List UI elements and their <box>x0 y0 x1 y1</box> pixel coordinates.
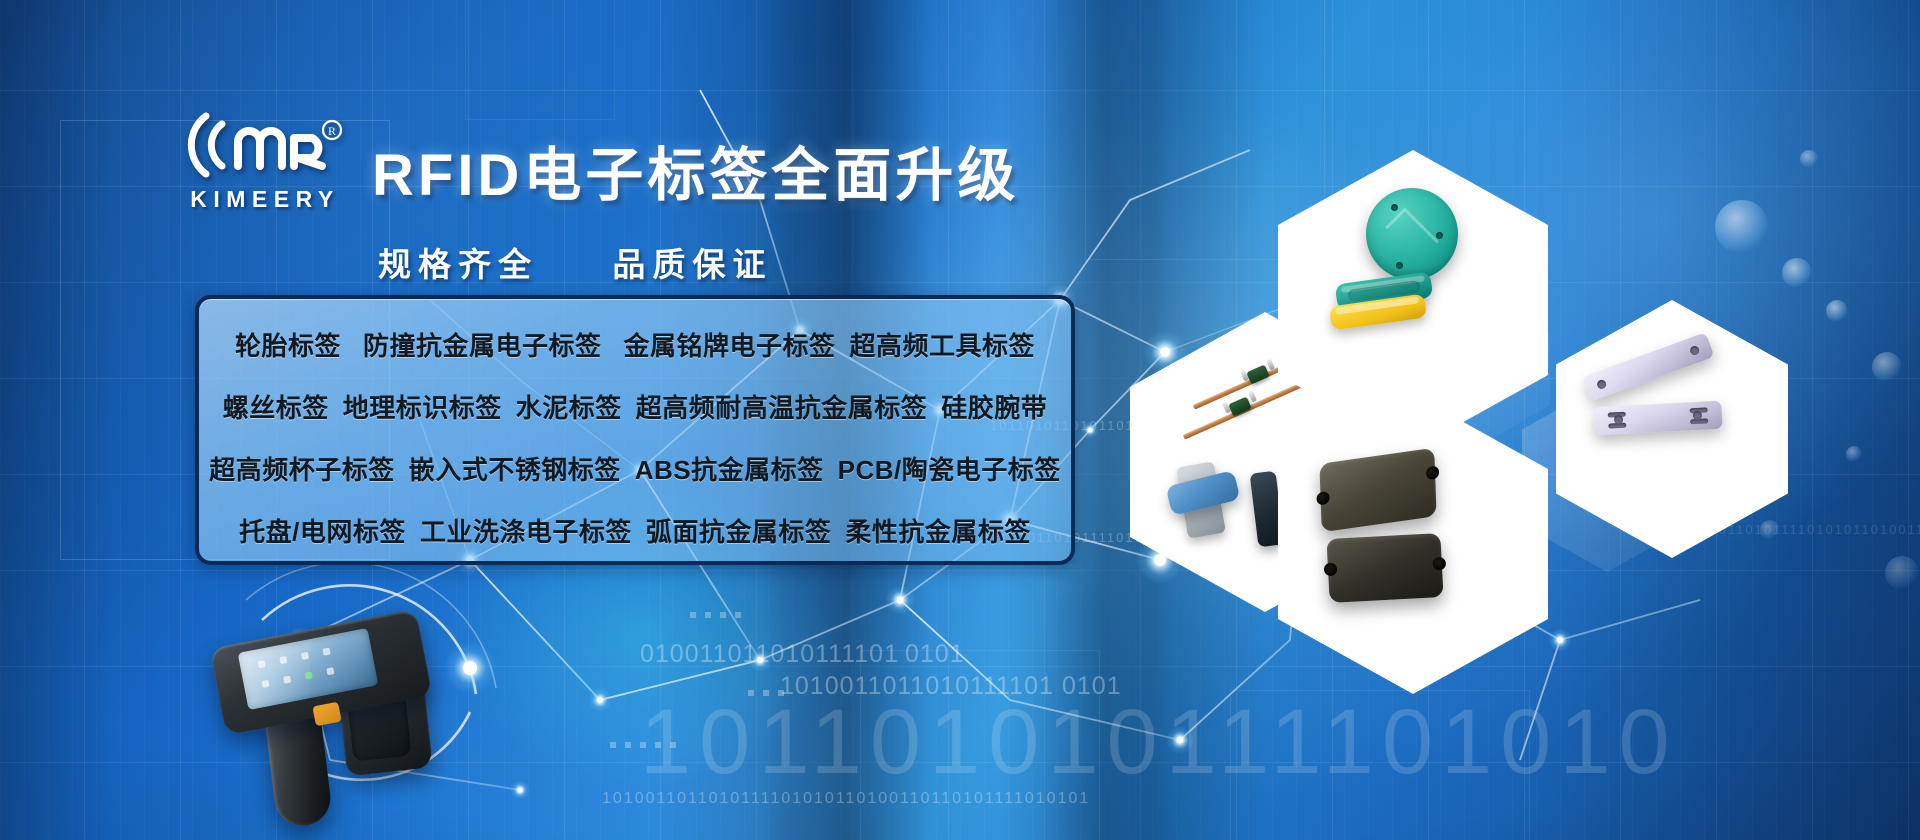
product-item[interactable]: 工业洗涤电子标签 <box>420 512 632 549</box>
product-hexagon-cluster <box>1130 150 1920 710</box>
rod-chip <box>1228 396 1252 416</box>
product-item[interactable]: 弧面抗金属标签 <box>646 512 832 549</box>
circuit-dots-2 <box>748 690 784 696</box>
product-row: 轮胎标签 防撞抗金属电子标签 金属铭牌电子标签 超高频工具标签 <box>199 326 1071 363</box>
product-item[interactable]: 嵌入式不锈钢标签 <box>409 450 621 487</box>
product-item[interactable]: 超高频杯子标签 <box>209 450 395 487</box>
product-category-box: 轮胎标签 防撞抗金属电子标签 金属铭牌电子标签 超高频工具标签 螺丝标签 地理标… <box>195 295 1075 565</box>
product-item[interactable]: 防撞抗金属电子标签 <box>363 326 602 363</box>
mount-hole <box>1396 262 1403 269</box>
dark-rugged-tag-upper <box>1319 448 1436 532</box>
product-item[interactable]: 水泥标签 <box>516 388 622 425</box>
product-item[interactable]: 托盘/电网标签 <box>239 512 406 549</box>
product-item[interactable]: 超高频耐高温抗金属标签 <box>636 388 928 425</box>
kimeery-signal-logo-icon: R <box>172 108 352 182</box>
rfid-promo-banner: 101101010111101010 010011011010111101 01… <box>0 0 1920 840</box>
product-item[interactable]: 轮胎标签 <box>235 326 341 363</box>
product-row: 螺丝标签 地理标识标签 水泥标签 超高频耐高温抗金属标签 硅胶腕带 <box>199 388 1071 425</box>
rod-band <box>1266 358 1275 370</box>
product-row: 超高频杯子标签 嵌入式不锈钢标签 ABS抗金属标签 PCB/陶瓷电子标签 <box>199 450 1071 487</box>
svg-text:R: R <box>328 124 336 138</box>
chevron-emboss-icon <box>1385 207 1438 260</box>
product-item[interactable]: 硅胶腕带 <box>941 388 1047 425</box>
product-item[interactable]: PCB/陶瓷电子标签 <box>838 450 1061 487</box>
product-item[interactable]: 地理标识标签 <box>343 388 502 425</box>
rod-band <box>1248 390 1257 402</box>
binary-decor-mid-top: 010011011010111101 <box>640 640 899 669</box>
product-item[interactable]: 螺丝标签 <box>223 388 329 425</box>
mount-hole <box>1436 232 1443 239</box>
product-item[interactable]: ABS抗金属标签 <box>635 450 824 487</box>
product-item[interactable]: 金属铭牌电子标签 <box>624 326 836 363</box>
binary-decor-mid-bottom-2: 0101 <box>1062 672 1122 701</box>
circuit-dots-1 <box>690 612 741 618</box>
circuit-dots-3 <box>610 742 676 748</box>
lavender-tag-back <box>1582 332 1715 402</box>
dark-rugged-tag-lower <box>1326 533 1443 603</box>
page-subtitle: 规格齐全 品质保证 <box>378 238 772 286</box>
subtitle-left: 规格齐全 <box>378 246 538 283</box>
brand-name: KIMEERY <box>172 186 352 213</box>
product-row: 托盘/电网标签 工业洗涤电子标签 弧面抗金属标签 柔性抗金属标签 <box>199 512 1071 549</box>
product-item[interactable]: 超高频工具标签 <box>850 326 1036 363</box>
subtitle-right: 品质保证 <box>612 246 772 283</box>
brand-logo[interactable]: R KIMEERY <box>172 108 352 213</box>
lavender-tag-front <box>1593 401 1722 436</box>
binary-decor-mid-top-2: 0101 <box>905 640 965 669</box>
mount-hole <box>1391 204 1398 211</box>
rod-chip <box>1246 364 1270 384</box>
product-item[interactable]: 柔性抗金属标签 <box>845 512 1031 549</box>
handheld-rfid-reader[interactable] <box>196 598 496 840</box>
teal-disc-tag <box>1366 188 1458 280</box>
page-title: RFID电子标签全面升级 <box>372 128 1019 212</box>
reader-trigger-button[interactable] <box>312 702 341 727</box>
binary-decor-mid-bottom: 1010011011010111101 <box>780 672 1054 701</box>
binary-decor-small-left: 1010011011010111101010110100110110101111… <box>602 790 1090 808</box>
